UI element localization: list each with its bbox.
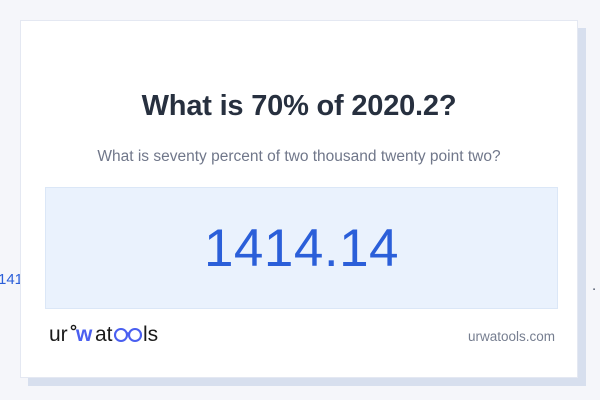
page-title: What is 70% of 2020.2? — [21, 91, 577, 123]
site-url-label: urwatools.com — [468, 329, 555, 344]
svg-text:at: at — [95, 323, 113, 346]
urwatools-logo[interactable]: ur w at ls — [49, 321, 171, 347]
page-subtitle: What is seventy percent of two thousand … — [21, 147, 577, 167]
card-footer: ur w at ls urwatools.com — [21, 311, 577, 377]
svg-text:w: w — [75, 323, 93, 346]
clipped-text-right: . — [592, 277, 596, 294]
svg-text:ur: ur — [49, 323, 68, 346]
answer-panel: 1414.14 — [45, 187, 558, 309]
svg-text:ls: ls — [143, 323, 158, 346]
page-stage: 1414.14 What is 70% of 2020.2? What is s… — [0, 0, 600, 400]
result-card: What is 70% of 2020.2? What is seventy p… — [20, 20, 578, 378]
answer-value: 1414.14 — [204, 222, 399, 275]
urwatools-logo-icon: ur w at ls — [49, 321, 171, 347]
